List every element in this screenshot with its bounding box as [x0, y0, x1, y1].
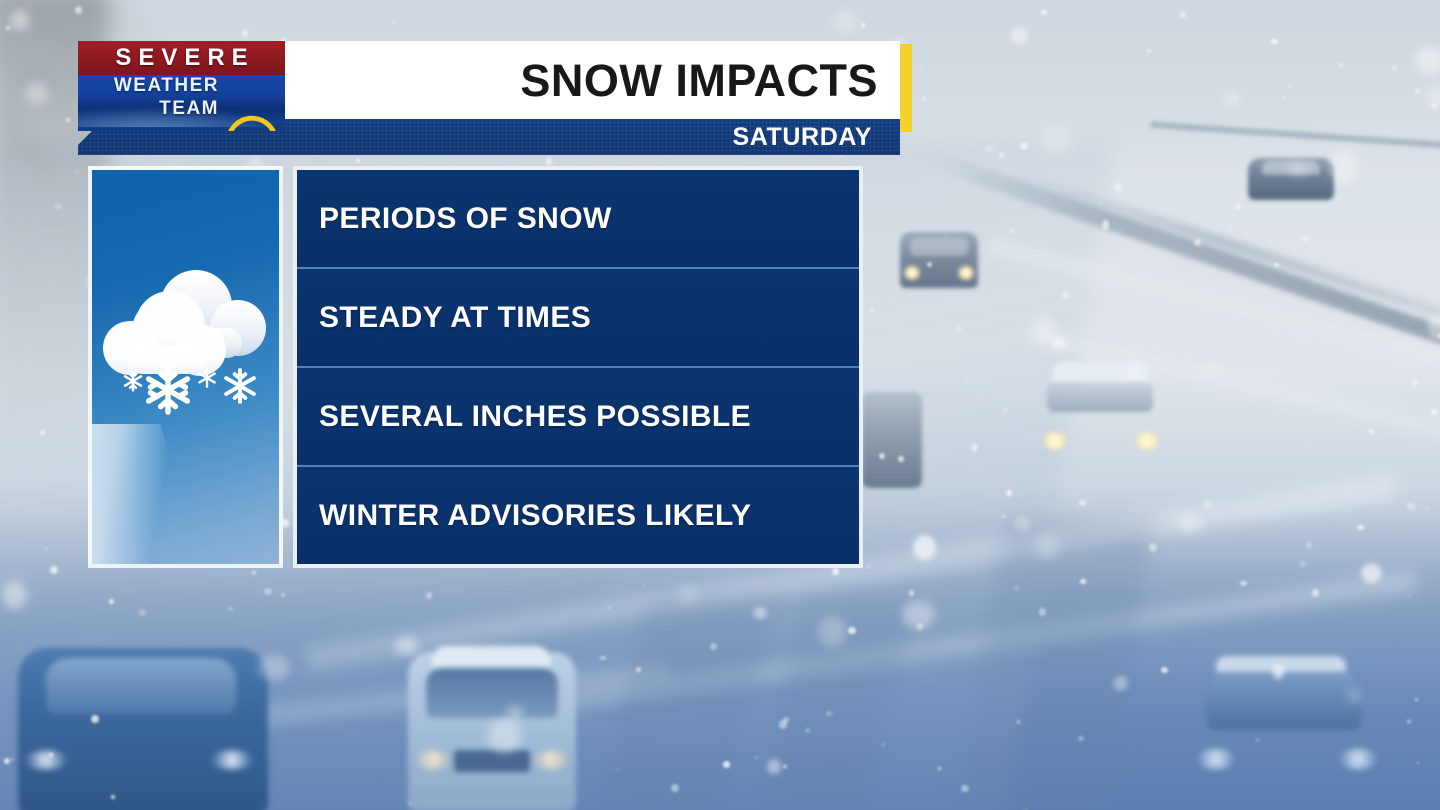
impact-row: PERIODS OF SNOW — [297, 170, 859, 269]
impact-row-label: STEADY AT TIMES — [297, 301, 591, 335]
impact-row-label: WINTER ADVISORIES LIKELY — [297, 499, 751, 533]
snow-flake — [1407, 720, 1410, 724]
snow-flake — [1431, 409, 1437, 415]
foreground-vehicle-center — [408, 652, 576, 810]
yellow-accent-stripe — [900, 44, 912, 132]
snowflake-medium — [226, 370, 254, 402]
headlight — [210, 750, 254, 770]
snow-flake — [1426, 508, 1428, 510]
logo-team-text: TEAM — [159, 98, 219, 120]
snow-flake — [1357, 525, 1365, 531]
headlight — [24, 750, 68, 770]
logo-weather-team-band: WEATHER TEAM — [78, 75, 285, 131]
day-label: SATURDAY — [732, 123, 900, 152]
headline-bar: SNOW IMPACTS — [285, 41, 900, 119]
front-grille — [454, 750, 530, 772]
windshield — [46, 658, 236, 714]
headlight — [416, 750, 450, 770]
logo-severe-band: SEVERE — [78, 41, 285, 75]
logo-severe-text: SEVERE — [108, 44, 254, 72]
snow-flake — [1369, 429, 1374, 435]
snow-flake — [1079, 500, 1086, 507]
wpxi-11-circle-icon — [225, 115, 279, 131]
weather-graphic-stage: SEVERE WEATHER TEAM SNOW IMPACTS SATURDA… — [0, 0, 1440, 810]
snowflake-large — [149, 368, 188, 412]
bare-branch — [0, 109, 50, 174]
weather-icon-card — [88, 166, 283, 568]
foreground-vehicle-left — [18, 648, 268, 810]
snow-flake — [1417, 762, 1419, 764]
snow-flake — [1240, 581, 1247, 586]
headlight — [534, 750, 568, 770]
snow-flake — [1407, 502, 1415, 510]
headlight — [956, 266, 976, 280]
logo-weather-text: WEATHER — [114, 75, 219, 97]
partial-vehicle — [862, 392, 922, 488]
headlight — [1196, 748, 1236, 770]
snow-flake — [1307, 439, 1310, 441]
distant-vehicle — [1248, 158, 1334, 200]
impact-row: SEVERAL INCHES POSSIBLE — [297, 368, 859, 467]
snowflake-group — [125, 368, 254, 412]
impact-row: STEADY AT TIMES — [297, 269, 859, 368]
suv-vehicle — [1035, 368, 1167, 466]
snow-flake — [1412, 379, 1418, 386]
windshield — [426, 668, 558, 718]
headlight — [902, 266, 922, 280]
windshield — [1047, 382, 1153, 412]
windshield — [910, 238, 968, 256]
snow-flake — [1149, 543, 1157, 552]
oncoming-vehicle — [900, 232, 978, 288]
headlight — [1041, 432, 1069, 450]
page-title: SNOW IMPACTS — [520, 58, 900, 103]
headlight — [1133, 432, 1161, 450]
snow-flake — [1408, 594, 1410, 596]
foreground-vehicle-right — [1182, 660, 1394, 810]
headlight — [1338, 748, 1378, 770]
corner-wedge-accent — [88, 424, 204, 568]
snow-flake — [1415, 698, 1419, 702]
snow-covered-roof — [432, 646, 550, 668]
impacts-list: PERIODS OF SNOWSTEADY AT TIMESSEVERAL IN… — [293, 166, 863, 568]
impact-row: WINTER ADVISORIES LIKELY — [297, 467, 859, 564]
snow-flake — [1306, 542, 1312, 549]
snow-covered-roof — [1216, 656, 1346, 672]
snow-flake — [1300, 561, 1307, 567]
snow-covered-roof — [1053, 362, 1149, 382]
impact-row-label: SEVERAL INCHES POSSIBLE — [297, 400, 751, 434]
severe-weather-team-logo: SEVERE WEATHER TEAM — [78, 41, 285, 131]
impact-row-label: PERIODS OF SNOW — [297, 202, 612, 236]
snow-impacts-panel: PERIODS OF SNOWSTEADY AT TIMESSEVERAL IN… — [88, 166, 863, 568]
snow-showers-cloud-icon — [92, 258, 283, 438]
snow-flake — [1161, 667, 1168, 673]
windshield — [1206, 674, 1362, 730]
